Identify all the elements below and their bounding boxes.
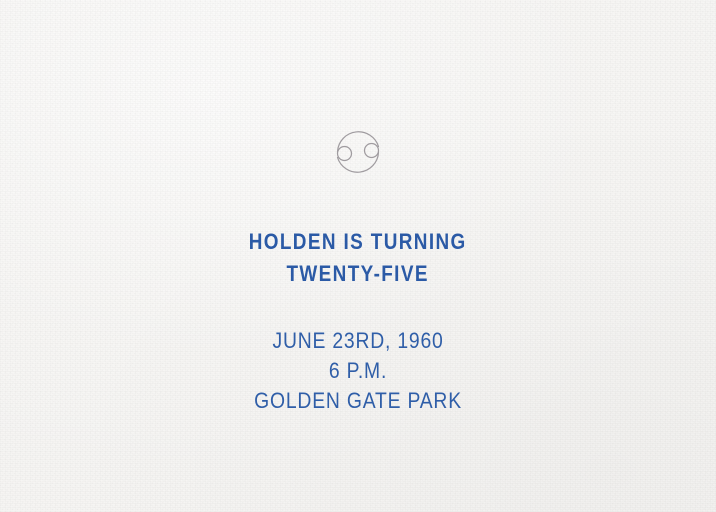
headline-block: HOLDEN IS TURNING TWENTY-FIVE xyxy=(231,226,484,290)
headline-line-2: TWENTY-FIVE xyxy=(249,258,467,290)
headline-line-1: HOLDEN IS TURNING xyxy=(249,226,467,258)
event-location: GOLDEN GATE PARK xyxy=(254,386,462,416)
invitation-card: HOLDEN IS TURNING TWENTY-FIVE JUNE 23RD,… xyxy=(0,0,716,512)
cancer-zodiac-icon xyxy=(329,124,387,180)
event-date: JUNE 23RD, 1960 xyxy=(254,326,462,356)
event-time: 6 P.M. xyxy=(254,356,462,386)
card-content: HOLDEN IS TURNING TWENTY-FIVE JUNE 23RD,… xyxy=(0,0,716,416)
event-details-block: JUNE 23RD, 1960 6 P.M. GOLDEN GATE PARK xyxy=(240,326,476,416)
